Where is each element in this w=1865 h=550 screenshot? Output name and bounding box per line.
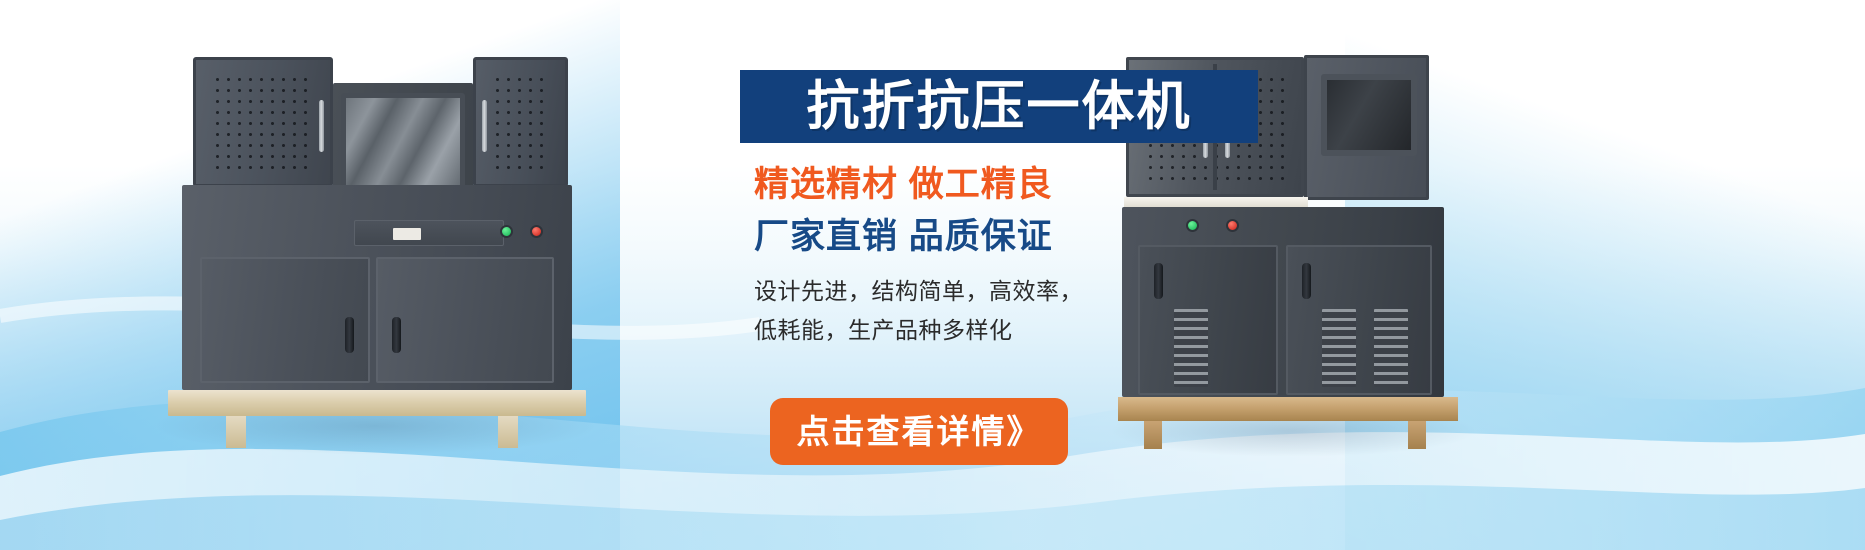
product-image-left-machine (160, 45, 590, 435)
marketing-copy-block: 抗折抗压一体机 精选精材 做工精良 厂家直销 品质保证 设计先进，结构简单，高效… (740, 70, 1300, 351)
display-screen-frame (341, 93, 465, 191)
cabinet-handle (482, 100, 487, 152)
top-left-perforated-cabinet (193, 57, 333, 187)
door-handle (1302, 263, 1311, 299)
machine-main-body (182, 185, 572, 390)
pallet-leg (1144, 421, 1162, 449)
top-right-perforated-cabinet (473, 57, 568, 187)
subtitle-blue: 厂家直销 品质保证 (754, 217, 1300, 257)
pallet-leg (226, 416, 246, 448)
lower-louvered-door-right (1286, 245, 1432, 395)
description-line-1: 设计先进，结构简单，高效率， (754, 272, 1300, 312)
monitor-screen (1327, 80, 1411, 150)
center-display-housing (333, 83, 473, 201)
ventilation-louver (1374, 309, 1408, 387)
monitor-frame (1321, 74, 1417, 156)
wooden-pallet-base (1118, 397, 1458, 421)
wooden-pallet-base (168, 390, 586, 416)
ventilation-louver (1322, 309, 1356, 387)
perforation-pattern (212, 74, 314, 170)
description-line-2: 低耗能，生产品种多样化 (754, 311, 1300, 351)
perforation-pattern (492, 74, 549, 170)
stop-indicator-red (530, 225, 543, 238)
power-indicator-green (500, 225, 513, 238)
door-handle (392, 317, 401, 353)
pallet-leg (1408, 421, 1426, 449)
lower-cabinet-door-right (376, 257, 554, 383)
view-details-button[interactable]: 点击查看详情》 (770, 398, 1068, 465)
monitor-housing (1304, 55, 1429, 200)
subtitle-orange: 精选精材 做工精良 (754, 165, 1300, 205)
view-details-button-label: 点击查看详情》 (797, 415, 1042, 448)
cabinet-handle (319, 100, 324, 152)
display-screen (346, 98, 460, 186)
door-handle (345, 317, 354, 353)
title-banner-bar: 抗折抗压一体机 (740, 70, 1258, 143)
drawer-label-plate (393, 228, 421, 240)
lower-cabinet-door-left (200, 257, 370, 383)
product-banner: 抗折抗压一体机 精选精材 做工精良 厂家直销 品质保证 设计先进，结构简单，高效… (0, 0, 1865, 550)
pallet-leg (498, 416, 518, 448)
page-title: 抗折抗压一体机 (807, 80, 1192, 133)
description-block: 设计先进，结构简单，高效率， 低耗能，生产品种多样化 (754, 272, 1300, 351)
control-drawer (354, 220, 504, 246)
